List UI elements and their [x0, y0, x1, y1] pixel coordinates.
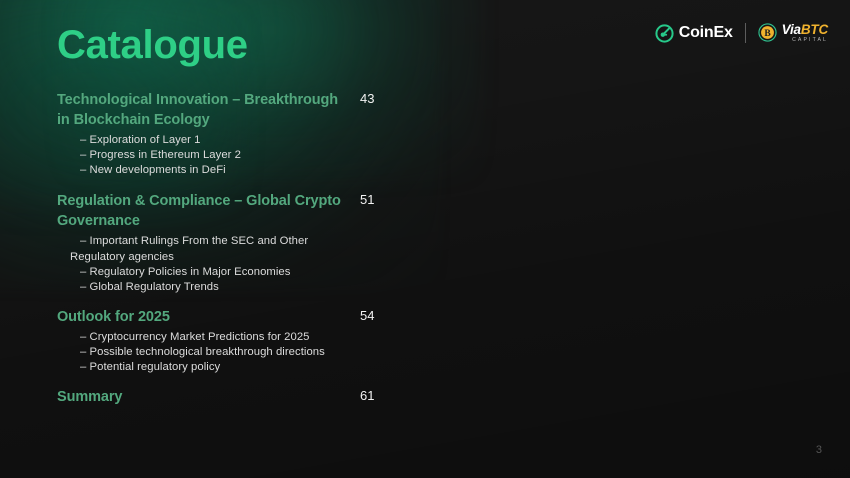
viabtc-wordmark: ViaBTC CAPITAL [782, 23, 828, 44]
slide-number: 3 [816, 444, 822, 456]
viabtc-bitcoin-icon: B [758, 23, 777, 42]
viabtc-name: ViaBTC [782, 23, 828, 37]
viabtc-logo: B ViaBTC CAPITAL [758, 23, 828, 44]
toc-heading: Regulation & Compliance – Global Crypto … [57, 191, 347, 231]
toc-heading: Outlook for 2025 [57, 307, 347, 327]
coinex-wordmark: CoinEx [679, 25, 733, 41]
toc-sub-item: – Global Regulatory Trends [80, 280, 397, 295]
toc-sub-item: – Cryptocurrency Market Predictions for … [80, 330, 397, 345]
toc-page-number: 61 [360, 388, 374, 405]
toc-entry-regulation-compliance[interactable]: Regulation & Compliance – Global Crypto … [57, 191, 397, 295]
coinex-logo-icon [655, 24, 674, 43]
toc-sub-list: – Exploration of Layer 1 – Progress in E… [57, 133, 397, 178]
toc-sub-item-wrap: Regulatory agencies [80, 250, 397, 265]
toc-sub-item: – Progress in Ethereum Layer 2 [80, 148, 397, 163]
viabtc-name-via: Via [782, 22, 801, 37]
toc-sub-item: – Regulatory Policies in Major Economies [80, 265, 397, 280]
toc-sub-list: – Cryptocurrency Market Predictions for … [57, 330, 397, 375]
svg-text:B: B [764, 30, 771, 40]
toc-sub-item: – Potential regulatory policy [80, 360, 397, 375]
toc-sub-item: – Exploration of Layer 1 [80, 133, 397, 148]
toc-heading: Technological Innovation – Breakthrough … [57, 90, 347, 130]
toc-page-number: 43 [360, 91, 374, 108]
toc-sub-item: – New developments in DeFi [80, 163, 397, 178]
toc-entry-summary[interactable]: Summary 61 [57, 387, 397, 407]
toc-entry-outlook-2025[interactable]: Outlook for 2025 54 – Cryptocurrency Mar… [57, 307, 397, 375]
toc-sub-list: – Important Rulings From the SEC and Oth… [57, 234, 397, 295]
table-of-contents: Technological Innovation – Breakthrough … [57, 90, 397, 407]
brand-bar: CoinEx B ViaBTC CAPITAL [655, 20, 828, 46]
viabtc-subtitle: CAPITAL [782, 38, 828, 43]
toc-sub-item: – Important Rulings From the SEC and Oth… [80, 234, 397, 249]
toc-heading: Summary [57, 387, 347, 407]
toc-sub-item: – Possible technological breakthrough di… [80, 345, 397, 360]
viabtc-name-btc: BTC [801, 22, 828, 37]
brand-divider [745, 23, 746, 43]
toc-sub-wrap-line: Regulatory agencies [70, 250, 397, 265]
toc-page-number: 54 [360, 308, 374, 325]
coinex-logo: CoinEx [655, 24, 733, 43]
page-title: Catalogue [57, 24, 248, 66]
toc-entry-technological-innovation[interactable]: Technological Innovation – Breakthrough … [57, 90, 397, 178]
presentation-slide: CoinEx B ViaBTC CAPITAL Catalogue Techno… [0, 0, 850, 478]
toc-page-number: 51 [360, 192, 374, 209]
